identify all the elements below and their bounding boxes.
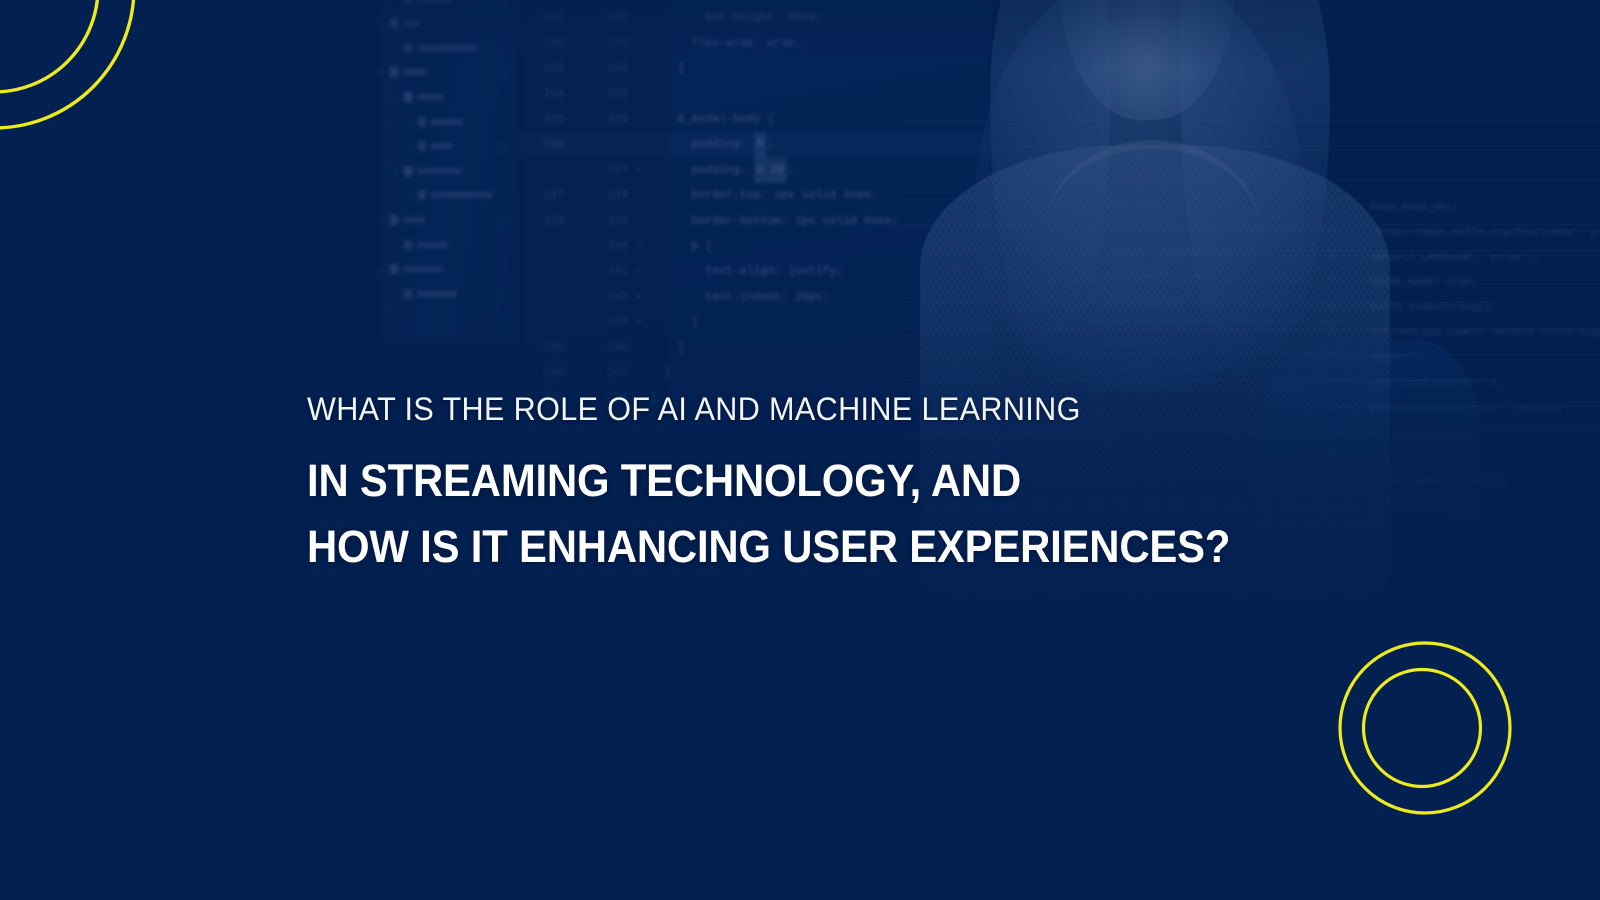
headline-kicker: WHAT IS THE ROLE OF AI AND MACHINE LEARN… [307,386,1319,432]
headline-line-2: IN STREAMING TECHNOLOGY, AND [307,448,1293,514]
slide-canvas: 230231 max-width: 80% !important;231232 … [0,0,1600,900]
headline-block: WHAT IS THE ROLE OF AI AND MACHINE LEARN… [307,386,1367,580]
headline-line-3: HOW IS IT ENHANCING USER EXPERIENCES? [307,514,1293,580]
